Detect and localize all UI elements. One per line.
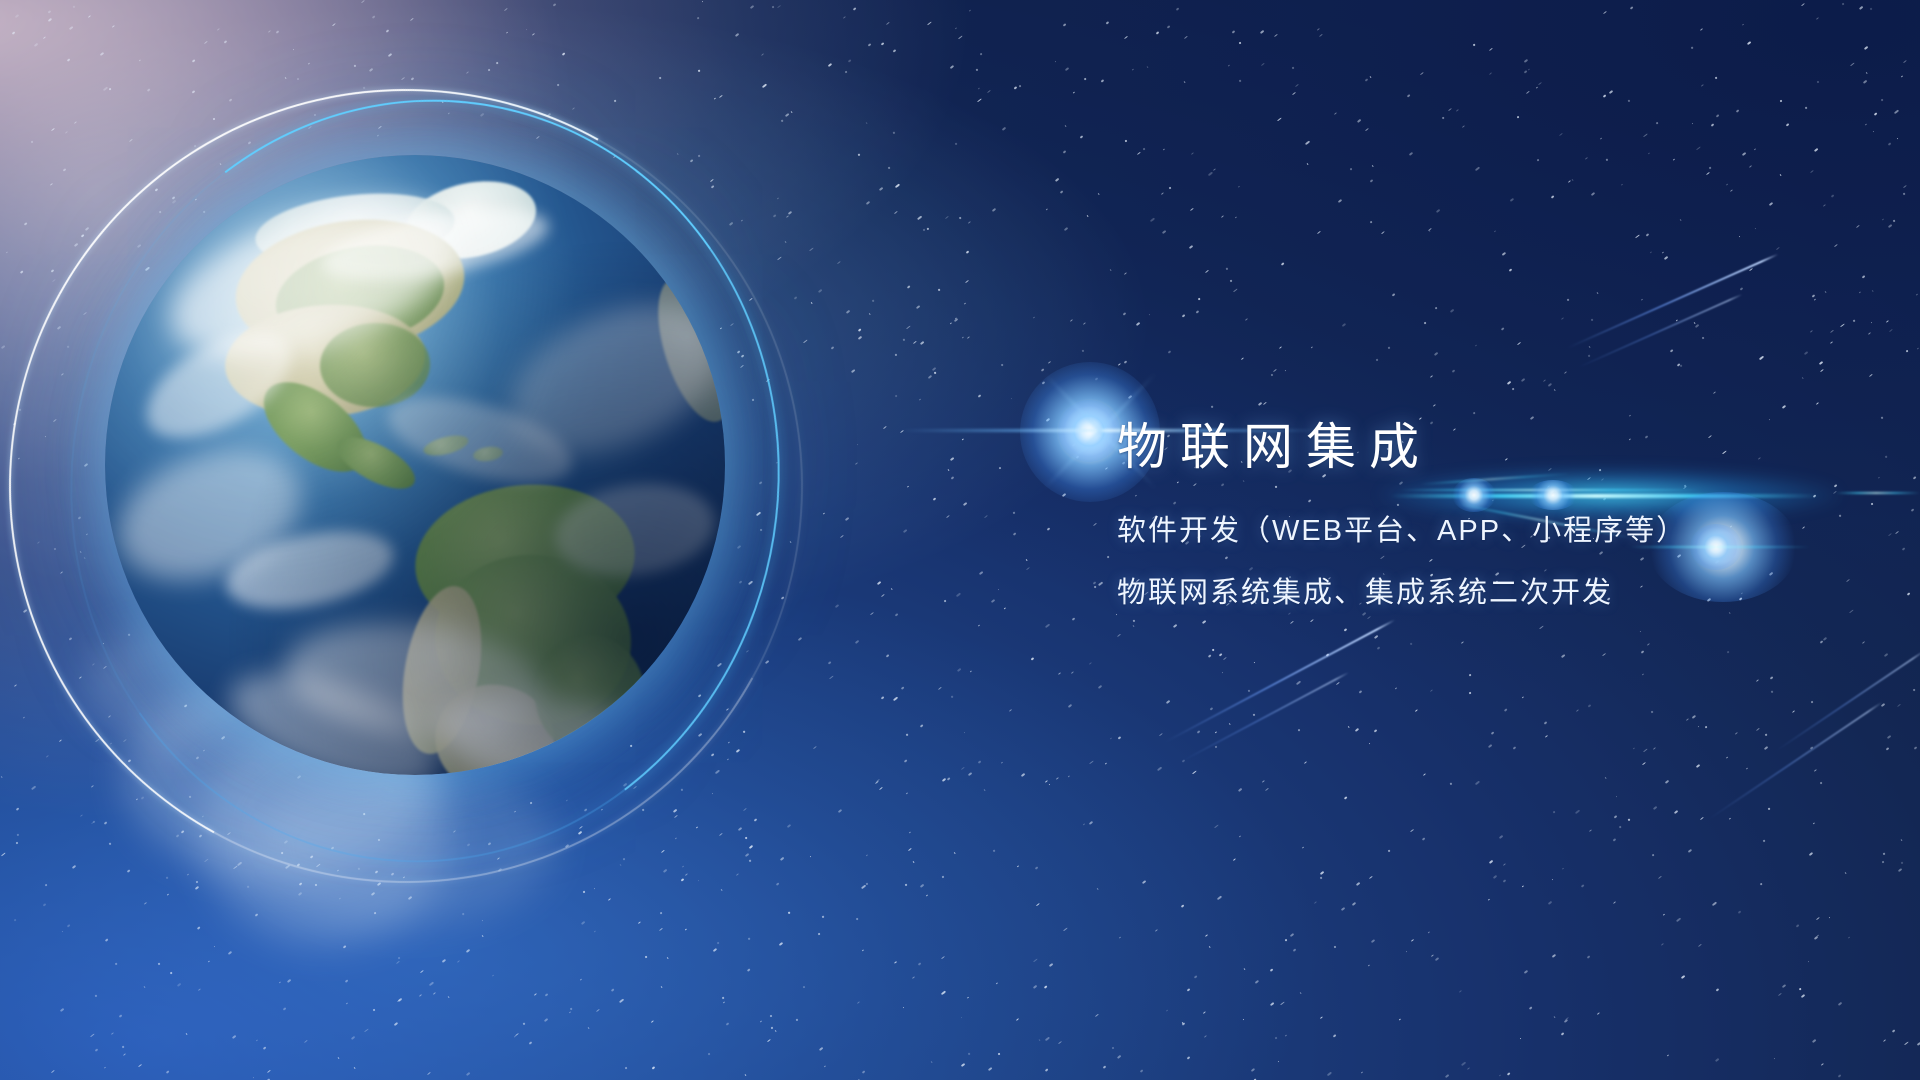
comet-streak: [1181, 672, 1350, 763]
hero-subtitle-line-1: 软件开发（WEB平台、APP、小程序等）: [1117, 507, 1837, 549]
comet-streak: [1775, 650, 1920, 752]
earth-globe: [105, 155, 725, 775]
light-streak-edge: [1836, 492, 1920, 494]
comet-streak: [1165, 619, 1396, 743]
comet-streak: [1568, 253, 1779, 348]
hero-subtitle-line-2: 物联网系统集成、集成系统二次开发: [1117, 569, 1837, 611]
hero-copy: 物联网集成 软件开发（WEB平台、APP、小程序等） 物联网系统集成、集成系统二…: [1117, 418, 1837, 611]
page-title: 物联网集成: [1117, 418, 1837, 477]
hero-banner: 物联网集成 软件开发（WEB平台、APP、小程序等） 物联网系统集成、集成系统二…: [0, 0, 1920, 1080]
comet-streak: [1707, 701, 1882, 820]
